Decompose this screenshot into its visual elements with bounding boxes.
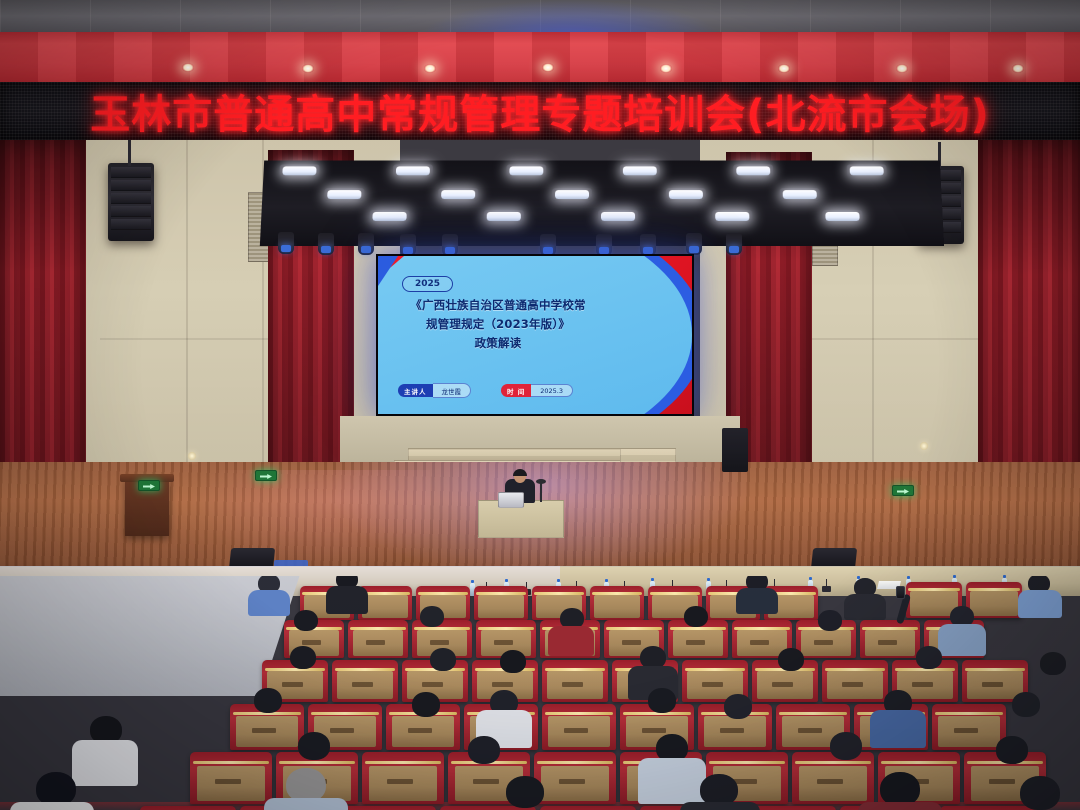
audience-head bbox=[1040, 652, 1066, 675]
presenter-hair bbox=[513, 469, 527, 476]
audience-torso bbox=[72, 740, 138, 786]
smartphone bbox=[896, 586, 905, 599]
audience-torso bbox=[858, 802, 942, 810]
speaker-segment bbox=[111, 180, 151, 191]
auditorium-seat bbox=[362, 752, 444, 804]
truss-lamp bbox=[623, 166, 657, 175]
slide-title-line-3: 政策解读 bbox=[392, 334, 604, 353]
seat-number-plate bbox=[702, 682, 723, 687]
presentation-slide: 2025 《广西壮族自治区普通高中学校常 规管理规定（2023年版）》 政策解读… bbox=[378, 256, 692, 414]
seat-number-plate bbox=[559, 779, 585, 784]
audience-head bbox=[286, 768, 326, 802]
audience-torso bbox=[548, 626, 594, 656]
ceiling-downlight bbox=[182, 63, 194, 72]
auditorium-seat bbox=[348, 620, 408, 658]
speaker-segment bbox=[111, 193, 151, 204]
truss-lamp bbox=[509, 166, 543, 175]
audience-head bbox=[1012, 692, 1040, 717]
slide-title-line-2: 规管理规定（2023年版）》 bbox=[392, 315, 604, 334]
seat-trim bbox=[935, 712, 1003, 715]
slide-badges: 主讲人 龙世霞 时 间 2025.3 bbox=[398, 383, 573, 398]
par-stage-light bbox=[358, 233, 374, 255]
ceiling-downlight bbox=[778, 64, 790, 73]
seat-number-plate bbox=[215, 779, 241, 784]
desk-microphone bbox=[540, 482, 542, 502]
emergency-exit-sign bbox=[138, 480, 160, 491]
audience-head bbox=[880, 772, 920, 806]
truss-lamp bbox=[396, 166, 430, 175]
auditorium-seat bbox=[332, 660, 398, 702]
audience-head bbox=[778, 648, 804, 671]
audience-head bbox=[818, 610, 842, 631]
seated-audience bbox=[0, 576, 1080, 810]
wall-panel-line bbox=[100, 338, 290, 340]
seat-number-plate bbox=[494, 640, 513, 645]
seat-number-plate bbox=[430, 640, 449, 645]
seat-number-plate bbox=[422, 682, 443, 687]
audience-head bbox=[468, 736, 500, 764]
truss-lamp bbox=[282, 166, 316, 175]
seat-number-plate bbox=[562, 682, 583, 687]
audience-head bbox=[1020, 776, 1060, 810]
audience-head bbox=[254, 688, 282, 713]
slide-presenter-badge: 主讲人 龙世霞 bbox=[398, 383, 471, 398]
seat-trim bbox=[795, 761, 870, 764]
seat-number-plate bbox=[366, 640, 385, 645]
seat-number-plate bbox=[842, 682, 863, 687]
par-stage-light bbox=[726, 233, 742, 255]
seat-number-plate bbox=[622, 640, 641, 645]
seat-number-plate bbox=[878, 640, 897, 645]
date-badge-value: 2025.3 bbox=[531, 384, 573, 397]
par-stage-light bbox=[640, 234, 656, 256]
seat-number-plate bbox=[814, 640, 833, 645]
audience-head bbox=[412, 692, 440, 717]
audience-torso bbox=[326, 586, 368, 614]
emergency-exit-sign bbox=[892, 485, 914, 496]
emergency-exit-sign bbox=[255, 470, 277, 481]
seat-number-plate bbox=[252, 728, 276, 733]
audience-head bbox=[430, 648, 456, 671]
audience-torso bbox=[264, 798, 348, 810]
seat-number-plate bbox=[473, 779, 499, 784]
audience-head bbox=[500, 650, 526, 673]
slide-date-badge: 时 间 2025.3 bbox=[501, 383, 573, 398]
speaker-rigging-rod bbox=[128, 140, 131, 166]
auditorium-seat bbox=[534, 752, 616, 804]
audience-torso bbox=[938, 624, 986, 656]
seat-number-plate bbox=[772, 682, 793, 687]
audience-torso bbox=[736, 588, 778, 614]
presenter-laptop bbox=[498, 492, 524, 508]
par-stage-light bbox=[278, 232, 294, 254]
audience-torso bbox=[870, 710, 926, 748]
seat-number-plate bbox=[408, 728, 432, 733]
seat-number-plate bbox=[798, 728, 822, 733]
seat-number-plate bbox=[686, 640, 705, 645]
wall-light-fixture bbox=[920, 442, 928, 450]
slide-year-pill: 2025 bbox=[402, 276, 453, 292]
seat-number-plate bbox=[817, 779, 843, 784]
stage-floor-pink-light bbox=[190, 470, 430, 570]
seat-number-plate bbox=[720, 728, 744, 733]
presenter-badge-key: 主讲人 bbox=[398, 384, 433, 397]
ceiling-downlight bbox=[424, 64, 436, 73]
auditorium-seat bbox=[474, 586, 528, 620]
truss-lamp bbox=[487, 212, 521, 221]
truss-row-top bbox=[263, 162, 941, 182]
truss-lamp bbox=[850, 166, 884, 175]
slide-title: 《广西壮族自治区普通高中学校常 规管理规定（2023年版）》 政策解读 bbox=[392, 296, 604, 353]
truss-lamp bbox=[555, 190, 589, 199]
seat-number-plate bbox=[492, 682, 513, 687]
truss-lamp bbox=[441, 190, 475, 199]
audience-head bbox=[996, 736, 1028, 764]
seat-trim bbox=[881, 761, 956, 764]
seat-trim bbox=[537, 761, 612, 764]
audience-head bbox=[830, 732, 862, 760]
audience-head bbox=[684, 606, 708, 627]
presenter-badge-value: 龙世霞 bbox=[433, 383, 472, 398]
banner-title-text: 玉林市普通高中常规管理专题培训会(北流市会场) bbox=[0, 82, 1080, 140]
seat-number-plate bbox=[642, 728, 666, 733]
seat-trim bbox=[193, 761, 268, 764]
seat-number-plate bbox=[564, 728, 588, 733]
seat-number-plate bbox=[387, 779, 413, 784]
seat-back bbox=[362, 595, 407, 618]
audience-head bbox=[916, 646, 942, 669]
seat-number-plate bbox=[352, 682, 373, 687]
auditorium-seat bbox=[542, 704, 616, 750]
slide-title-line-1: 《广西壮族自治区普通高中学校常 bbox=[392, 296, 604, 315]
audience-head bbox=[420, 606, 444, 627]
audience-torso bbox=[680, 802, 760, 810]
ceiling-downlight bbox=[302, 64, 314, 73]
audience-head bbox=[36, 772, 76, 806]
seat-number-plate bbox=[912, 682, 933, 687]
audience-head bbox=[298, 732, 330, 760]
truss-lamp bbox=[715, 212, 749, 221]
auditorium-seat bbox=[966, 582, 1022, 618]
audience-head bbox=[290, 646, 316, 669]
ceiling-downlight bbox=[896, 64, 908, 73]
seat-back bbox=[594, 595, 639, 618]
truss-row-bottom bbox=[261, 208, 944, 228]
truss-lamp bbox=[372, 212, 406, 221]
auditorium-seat bbox=[792, 752, 874, 804]
auditorium-seat bbox=[932, 704, 1006, 750]
seat-trim bbox=[365, 761, 440, 764]
audience-torso bbox=[1018, 590, 1062, 618]
seat-number-plate bbox=[302, 640, 321, 645]
audience-torso bbox=[638, 758, 706, 804]
seat-trim bbox=[279, 761, 354, 764]
audience-head bbox=[294, 610, 318, 631]
seat-trim bbox=[545, 712, 613, 715]
truss-lamp bbox=[327, 190, 361, 199]
truss-lamp bbox=[825, 212, 859, 221]
seat-number-plate bbox=[954, 728, 978, 733]
speaker-segment bbox=[111, 219, 151, 230]
truss-row-middle bbox=[262, 186, 942, 206]
auditorium-seat bbox=[860, 620, 920, 658]
par-stage-light bbox=[596, 234, 612, 256]
audience-torso bbox=[10, 802, 94, 810]
equipment-cabinet bbox=[722, 428, 748, 472]
audience-torso bbox=[844, 594, 886, 620]
led-screen: 2025 《广西壮族自治区普通高中学校常 规管理规定（2023年版）》 政策解读… bbox=[376, 254, 694, 416]
audience-head bbox=[648, 688, 676, 713]
date-badge-key: 时 间 bbox=[501, 384, 531, 397]
slide-corner-blue-accent bbox=[378, 256, 398, 286]
seat-number-plate bbox=[330, 728, 354, 733]
ceiling-downlight bbox=[542, 63, 554, 72]
audience-head bbox=[724, 694, 752, 719]
speaker-segment bbox=[111, 206, 151, 217]
audience-torso bbox=[248, 590, 290, 616]
seat-number-plate bbox=[989, 779, 1015, 784]
par-stage-light bbox=[442, 234, 458, 256]
auditorium-seat bbox=[540, 806, 636, 810]
audience-head bbox=[506, 776, 544, 808]
seat-trim bbox=[779, 712, 847, 715]
seat-back bbox=[478, 595, 523, 618]
par-stage-light bbox=[400, 234, 416, 256]
auditorium-seat bbox=[340, 806, 436, 810]
ceiling-downlight bbox=[660, 64, 672, 73]
truss-lamp bbox=[783, 190, 817, 199]
seat-number-plate bbox=[982, 682, 1003, 687]
auditorium-seat bbox=[590, 586, 644, 620]
auditorium-seat bbox=[190, 752, 272, 804]
seat-back bbox=[970, 591, 1017, 615]
auditorium-seat bbox=[822, 660, 888, 702]
par-stage-light bbox=[686, 233, 702, 255]
auditorium-photo: 玉林市普通高中常规管理专题培训会(北流市会场) bbox=[0, 0, 1080, 810]
truss-lamp bbox=[669, 190, 703, 199]
ceiling-downlight bbox=[1012, 64, 1024, 73]
seat-trim bbox=[311, 712, 379, 715]
par-stage-light bbox=[318, 233, 334, 255]
truss-lamp bbox=[601, 212, 635, 221]
line-array-speaker-left bbox=[108, 163, 154, 241]
par-stage-light bbox=[540, 234, 556, 256]
truss-lamp bbox=[736, 166, 770, 175]
speaker-segment bbox=[111, 167, 151, 178]
seat-trim bbox=[709, 761, 784, 764]
auditorium-seat bbox=[542, 660, 608, 702]
auditorium-seat bbox=[140, 806, 236, 810]
seat-number-plate bbox=[750, 640, 769, 645]
seat-number-plate bbox=[282, 682, 303, 687]
led-title-banner: 玉林市普通高中常规管理专题培训会(北流市会场) bbox=[0, 82, 1080, 140]
ceiling-blue-glow bbox=[420, 0, 720, 36]
wall-light-fixture bbox=[188, 452, 196, 460]
